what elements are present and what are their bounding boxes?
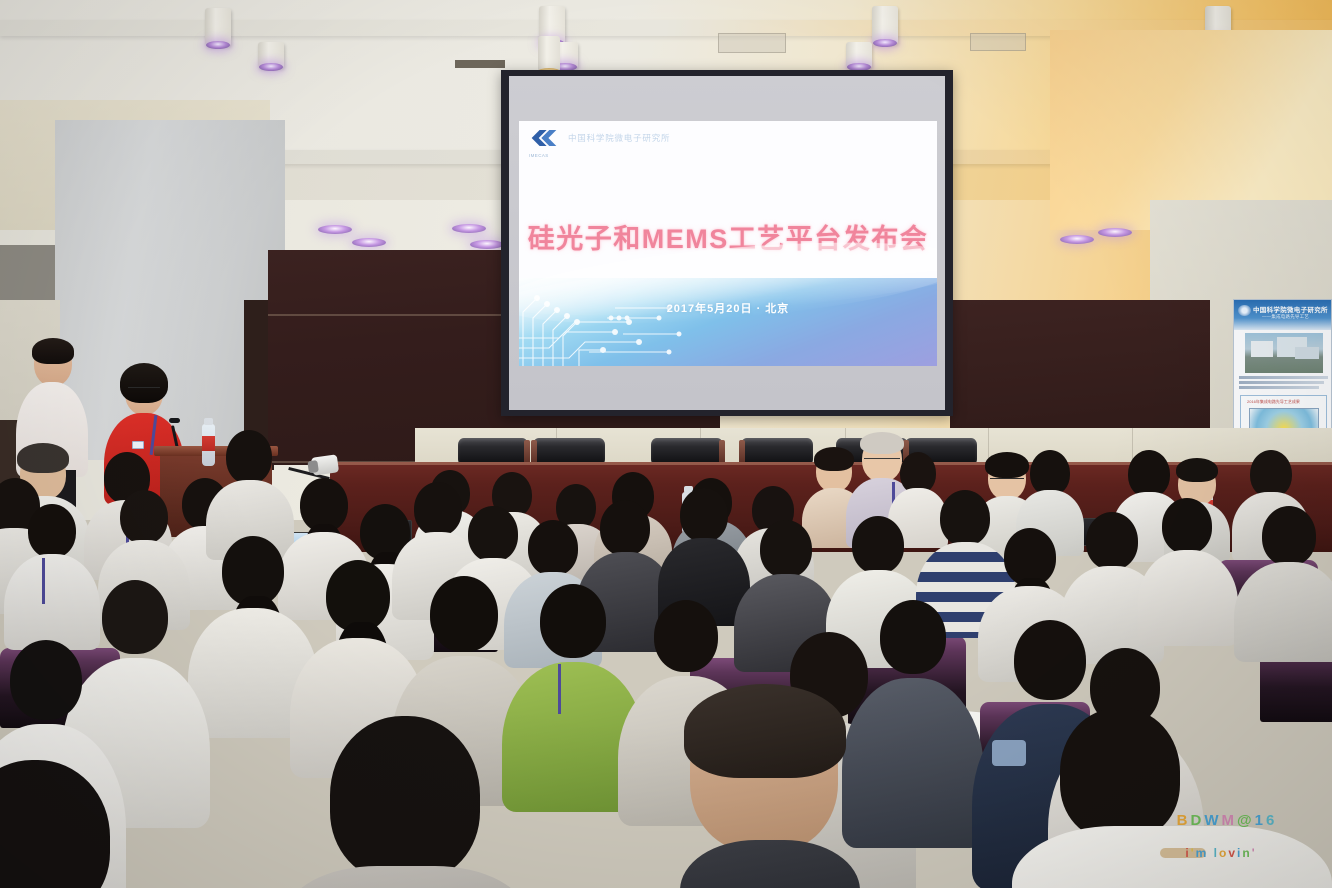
ceiling-vent bbox=[970, 33, 1026, 51]
slide-header: IMECAS 中国科学院微电子研究所 bbox=[519, 121, 937, 155]
recessed-light-icon bbox=[470, 240, 504, 249]
presentation-slide: IMECAS 中国科学院微电子研究所 硅光子和MEMS工艺平台发布会 bbox=[519, 121, 937, 366]
hair bbox=[32, 338, 74, 364]
poster-logo-icon bbox=[1238, 305, 1251, 316]
camera-icon bbox=[311, 454, 339, 475]
recessed-light-icon bbox=[452, 224, 486, 233]
tshirt-text-line1: BDWM@16 bbox=[1152, 812, 1302, 829]
hair bbox=[120, 363, 168, 403]
poster-title: 中国科学院微电子研究所 bbox=[1253, 304, 1328, 314]
poster-photo bbox=[1245, 333, 1323, 373]
recessed-light-icon bbox=[1060, 235, 1094, 244]
poster-figure-caption: 2016年集成电路先导工艺成果 bbox=[1247, 399, 1300, 405]
recessed-light-icon bbox=[352, 238, 386, 247]
recessed-light-icon bbox=[318, 225, 352, 234]
water-bottle bbox=[202, 424, 215, 466]
poster-subtitle: ——集成电路先导工艺 bbox=[1262, 314, 1309, 320]
slide-decoration: 2017年5月20日 · 北京 bbox=[519, 278, 937, 366]
downlight-icon bbox=[205, 8, 231, 46]
name-badge bbox=[132, 441, 144, 449]
slide-date-location: 2017年5月20日 · 北京 bbox=[519, 300, 937, 316]
downlight-icon bbox=[872, 6, 898, 44]
downlight-icon bbox=[258, 42, 284, 68]
microphone-head-icon bbox=[169, 418, 180, 423]
projector-mount bbox=[538, 36, 560, 72]
projection-screen: IMECAS 中国科学院微电子研究所 硅光子和MEMS工艺平台发布会 bbox=[501, 70, 953, 416]
glasses-icon bbox=[128, 387, 160, 391]
ceiling-vent bbox=[455, 60, 505, 68]
recessed-light-icon bbox=[1098, 228, 1132, 237]
logo-caption: IMECAS bbox=[529, 153, 563, 158]
institute-logo-icon: IMECAS bbox=[529, 125, 559, 151]
ceiling-vent bbox=[718, 33, 786, 53]
conference-photo-scene: IMECAS 中国科学院微电子研究所 硅光子和MEMS工艺平台发布会 bbox=[0, 0, 1332, 888]
circuit-pattern-icon bbox=[519, 278, 729, 366]
tshirt-text-line2: i'm lovin' bbox=[1146, 846, 1296, 860]
downlight-icon bbox=[846, 42, 872, 68]
slide-org-header: 中国科学院微电子研究所 bbox=[568, 132, 670, 144]
screen-matte: IMECAS 中国科学院微电子研究所 硅光子和MEMS工艺平台发布会 bbox=[509, 76, 945, 410]
